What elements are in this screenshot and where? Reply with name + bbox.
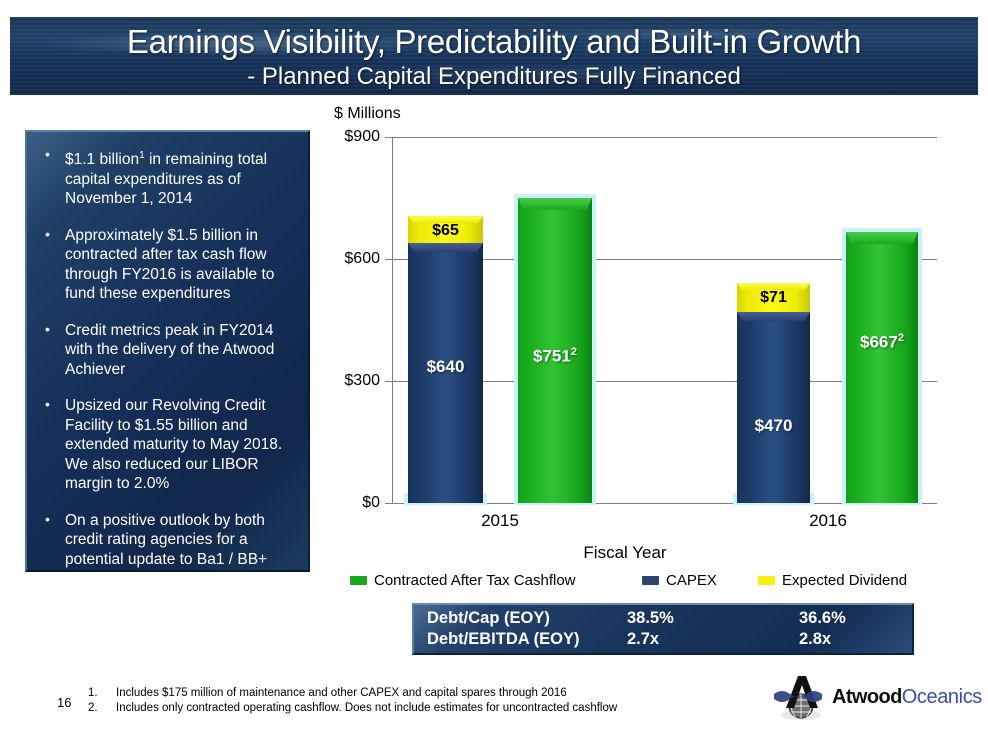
legend-swatch-blue xyxy=(642,576,659,585)
list-item: On a positive outlook by both credit rat… xyxy=(35,511,296,570)
logo-text-atwood: Atwood xyxy=(832,686,902,708)
bar-value-label: $640 xyxy=(408,357,483,377)
footnote-number: 2. xyxy=(88,701,98,716)
chart-x-axis-title: Fiscal Year xyxy=(545,543,705,563)
footnote-text: Includes $175 million of maintenance and… xyxy=(116,687,567,699)
bar-expected-dividend-2015: $65 xyxy=(408,216,483,242)
bullet-text: Credit metrics peak in FY2014 with the d… xyxy=(65,322,274,378)
bar-contracted-cashflow-2016: $6672 xyxy=(846,232,918,503)
legend-label: CAPEX xyxy=(666,572,717,589)
table-row: Debt/EBITDA (EOY) 2.7x 2.8x xyxy=(414,630,912,652)
chart-y-tickmark xyxy=(385,381,392,382)
legend-label: Contracted After Tax Cashflow xyxy=(374,572,576,589)
chart-y-tickmark xyxy=(385,137,392,138)
page-subtitle: - Planned Capital Expenditures Fully Fin… xyxy=(10,63,978,91)
legend-swatch-yellow xyxy=(758,576,775,585)
chart-legend: Contracted After Tax Cashflow CAPEX Expe… xyxy=(350,572,950,592)
chart-x-axis-label: 2015 xyxy=(460,511,540,531)
metric-label: Debt/Cap (EOY) xyxy=(427,609,550,628)
legend-swatch-green xyxy=(350,576,367,585)
footnotes: 1. Includes $175 million of maintenance … xyxy=(88,686,708,716)
bar-value-label: $6672 xyxy=(846,332,918,353)
chart-y-axis-label: $900 xyxy=(318,128,380,146)
bar-expected-dividend-2016: $71 xyxy=(737,283,810,312)
chart-y-axis-label: $300 xyxy=(318,372,380,390)
bullet-text: On a positive outlook by both credit rat… xyxy=(65,512,267,568)
legend-item-capex: CAPEX xyxy=(642,572,717,589)
company-logo: AtwoodOceanics xyxy=(768,672,968,724)
chart-y-tickmark xyxy=(385,503,392,504)
bar-value-label: $65 xyxy=(408,222,483,240)
bar-contracted-cashflow-2015: $7512 xyxy=(518,198,592,503)
list-item: $1.1 billion1 in remaining total capital… xyxy=(35,146,296,209)
chart-y-axis-label: $0 xyxy=(318,494,380,512)
bullet-text: Approximately $1.5 billion in contracted… xyxy=(65,227,274,303)
legend-item-dividend: Expected Dividend xyxy=(758,572,907,589)
footnote-text: Includes only contracted operating cashf… xyxy=(116,702,617,714)
metric-value-2015: 2.7x xyxy=(627,630,659,649)
chart-x-axis-label: 2016 xyxy=(788,511,868,531)
logo-text-oceanics: Oceanics xyxy=(902,686,982,708)
bar-value-label: $470 xyxy=(737,416,810,436)
bullet-text: Upsized our Revolving Credit Facility to… xyxy=(65,397,282,492)
bullet-list: $1.1 billion1 in remaining total capital… xyxy=(35,146,296,569)
chart-gridline xyxy=(392,137,937,138)
chart-y-tickmark xyxy=(385,259,392,260)
bar-capex-2016: $470 xyxy=(737,312,810,503)
atwood-logo-mark xyxy=(768,672,832,722)
bar-value-label: $7512 xyxy=(518,346,592,367)
chart-y-axis-line xyxy=(392,137,393,503)
bar-value-label: $71 xyxy=(737,289,810,307)
bullet-text: $1.1 billion1 in remaining total capital… xyxy=(65,151,267,207)
list-item: Approximately $1.5 billion in contracted… xyxy=(35,226,296,304)
key-points-panel: $1.1 billion1 in remaining total capital… xyxy=(25,130,310,572)
chart-y-axis-label: $600 xyxy=(318,250,380,268)
slide-title-banner: Earnings Visibility, Predictability and … xyxy=(10,17,978,95)
footnote: 2. Includes only contracted operating ca… xyxy=(88,701,708,716)
metric-value-2015: 38.5% xyxy=(627,609,674,628)
legend-item-cashflow: Contracted After Tax Cashflow xyxy=(350,572,576,589)
page-number: 16 xyxy=(57,695,71,710)
footnote-number: 1. xyxy=(88,686,98,701)
footnote: 1. Includes $175 million of maintenance … xyxy=(88,686,708,701)
metric-value-2016: 36.6% xyxy=(799,609,846,628)
logo-wordmark: AtwoodOceanics xyxy=(832,686,982,709)
list-item: Upsized our Revolving Credit Facility to… xyxy=(35,396,296,494)
legend-label: Expected Dividend xyxy=(782,572,907,589)
capex-cashflow-chart: $ Millions $0$300$600$900$7512$640$65201… xyxy=(325,100,965,570)
metric-value-2016: 2.8x xyxy=(799,630,831,649)
metric-label: Debt/EBITDA (EOY) xyxy=(427,630,579,649)
list-item: Credit metrics peak in FY2014 with the d… xyxy=(35,321,296,380)
table-row: Debt/Cap (EOY) 38.5% 36.6% xyxy=(414,609,912,631)
credit-metrics-table: Debt/Cap (EOY) 38.5% 36.6% Debt/EBITDA (… xyxy=(412,603,914,655)
page-title: Earnings Visibility, Predictability and … xyxy=(10,23,978,61)
chart-unit-label: $ Millions xyxy=(334,105,401,123)
bar-capex-2015: $640 xyxy=(408,243,483,503)
